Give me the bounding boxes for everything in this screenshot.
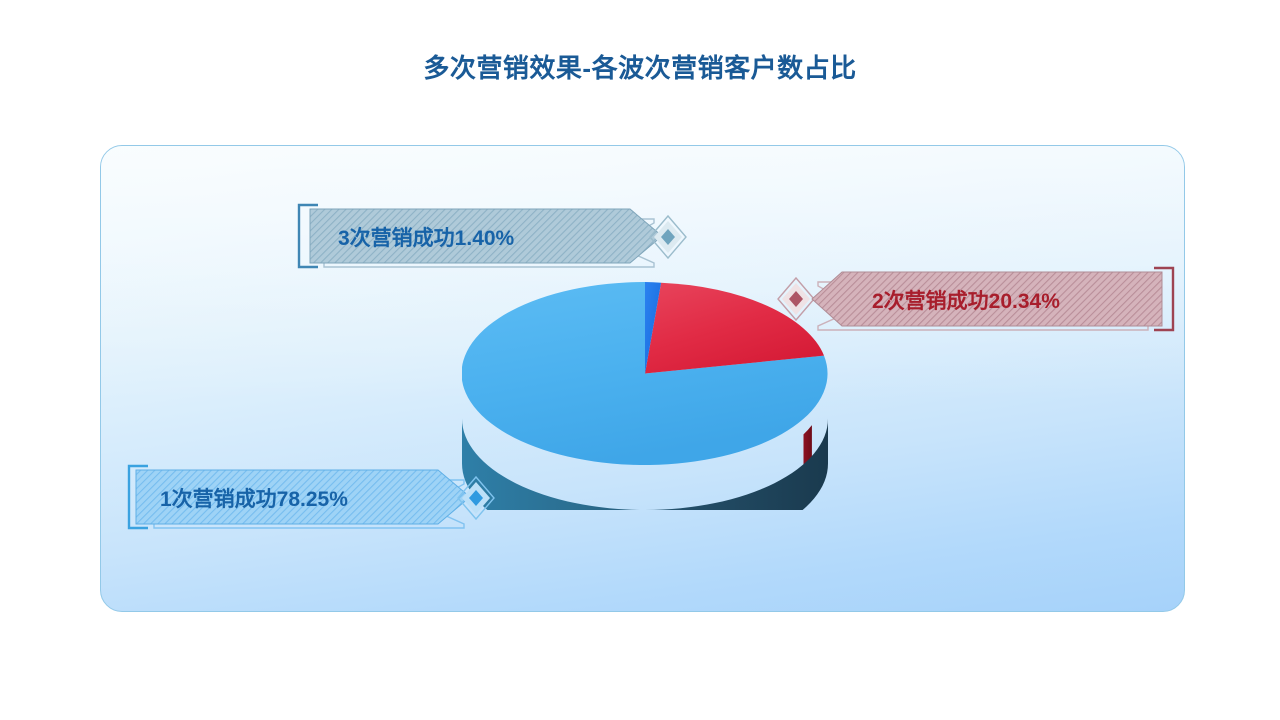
banner-chevron-icon: [130, 466, 490, 530]
diamond-marker-icon: [646, 214, 690, 260]
banner-shape: 1次营销成功78.25%: [130, 466, 490, 530]
page-title: 多次营销效果-各波次营销客户数占比: [0, 48, 1280, 85]
diamond-marker-icon: [454, 475, 498, 521]
banner-shape: 3次营销成功1.40%: [300, 205, 660, 269]
callout-label-2times[interactable]: 2次营销成功20.34%: [812, 268, 1172, 332]
callout-label-3times[interactable]: 3次营销成功1.40%: [300, 205, 660, 269]
banner-chevron-icon: [812, 268, 1172, 332]
callout-label-1time[interactable]: 1次营销成功78.25%: [130, 466, 490, 530]
slide-canvas: 多次营销效果-各波次营销客户数占比: [0, 0, 1280, 720]
banner-chevron-icon: [300, 205, 660, 269]
banner-shape: 2次营销成功20.34%: [812, 268, 1172, 332]
